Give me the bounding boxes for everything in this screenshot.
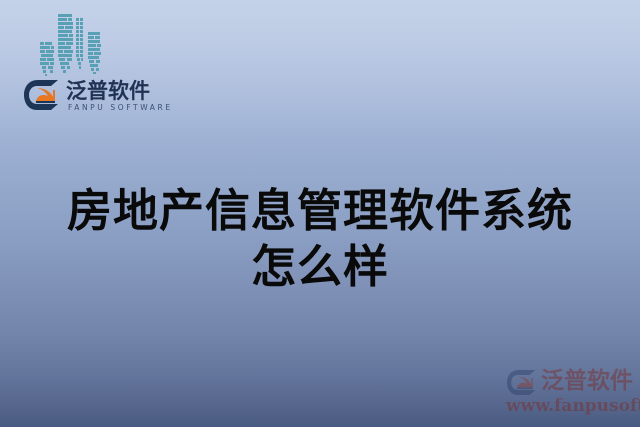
fanpu-swoosh-watermark-icon	[507, 370, 537, 395]
watermark-url: www.fanpusoft.com	[506, 396, 640, 416]
skyline-block	[51, 46, 54, 49]
skyline-block	[81, 58, 83, 61]
skyline-block	[66, 42, 73, 45]
skyline-block	[76, 50, 79, 53]
skyline-block	[97, 44, 101, 47]
skyline-block	[58, 26, 64, 29]
skyline-block	[88, 32, 100, 35]
skyline-block	[40, 58, 46, 61]
skyline-block	[58, 42, 65, 45]
skyline-block	[80, 22, 83, 25]
page-title-line2: 怎么样	[0, 239, 640, 295]
skyline-block	[58, 50, 63, 53]
skyline-block	[58, 18, 67, 21]
skyline-block	[96, 68, 99, 71]
skyline-block	[93, 72, 96, 74]
skyline-block	[89, 60, 94, 63]
skyline-block	[58, 38, 73, 41]
skyline-block	[59, 58, 65, 61]
skyline-block	[45, 74, 47, 76]
skyline-block	[90, 64, 98, 67]
skyline-block	[65, 26, 73, 29]
skyline-block	[95, 36, 100, 39]
skyline-block	[58, 30, 72, 33]
skyline-block	[88, 52, 93, 55]
skyline-block	[79, 66, 81, 69]
page-title: 房地产信息管理软件系统 怎么样	[0, 183, 640, 295]
skyline-block	[67, 58, 72, 61]
skyline-block	[58, 22, 73, 25]
skyline-block	[88, 40, 100, 43]
skyline-block	[76, 42, 79, 45]
skyline-block	[63, 70, 66, 73]
watermark-text-chinese: 泛普软件	[541, 368, 633, 395]
skyline-block	[96, 60, 100, 63]
skyline-block	[40, 50, 45, 53]
skyline-block	[47, 58, 54, 61]
skyline-block	[80, 26, 83, 29]
skyline-block	[80, 18, 83, 21]
skyline-block	[76, 30, 79, 33]
skyline-block	[67, 66, 70, 69]
skyline-block	[78, 62, 81, 65]
skyline-block	[76, 26, 79, 29]
skyline-block	[76, 38, 79, 41]
pixel-city-skyline-icon	[40, 10, 112, 78]
skyline-block	[76, 34, 79, 37]
skyline-block	[76, 54, 79, 57]
skyline-block	[88, 48, 100, 51]
brand-logo: 泛普软件 FANPU SOFTWARE	[24, 78, 144, 118]
page-title-line1: 房地产信息管理软件系统	[0, 183, 640, 239]
skyline-block	[76, 18, 79, 21]
skyline-block	[76, 22, 79, 25]
skyline-block	[80, 34, 83, 37]
skyline-block	[80, 42, 83, 45]
skyline-block	[88, 56, 99, 59]
skyline-block	[76, 46, 79, 49]
skyline-block	[77, 58, 80, 61]
fanpu-swoosh-logo-icon	[24, 80, 60, 110]
skyline-block	[68, 18, 72, 21]
skyline-block	[58, 14, 72, 17]
skyline-block	[64, 50, 73, 53]
skyline-block	[80, 38, 83, 41]
skyline-block	[80, 50, 83, 53]
skyline-block	[80, 46, 83, 49]
skyline-block	[40, 42, 44, 45]
skyline-block	[40, 46, 50, 49]
skyline-block	[58, 46, 71, 49]
skyline-block	[42, 66, 46, 69]
skyline-block	[80, 30, 83, 33]
poster-canvas: 泛普软件 FANPU SOFTWARE 房地产信息管理软件系统 怎么样 泛普软件…	[0, 0, 640, 427]
skyline-block	[58, 34, 68, 37]
skyline-block	[94, 52, 101, 55]
logo-text-english: FANPU SOFTWARE	[68, 103, 173, 112]
skyline-block	[61, 66, 65, 69]
skyline-block	[58, 54, 72, 57]
skyline-block	[88, 36, 94, 39]
skyline-block	[88, 44, 96, 47]
skyline-block	[48, 66, 53, 69]
watermark: 泛普软件 www.fanpusoft.com	[505, 366, 637, 418]
skyline-block	[69, 34, 73, 37]
skyline-block	[91, 68, 94, 71]
skyline-block	[45, 42, 52, 45]
skyline-block	[80, 54, 83, 57]
skyline-block	[50, 62, 54, 65]
skyline-block	[60, 62, 69, 65]
skyline-block	[41, 54, 53, 57]
skyline-block	[50, 70, 53, 73]
logo-text-chinese: 泛普软件	[66, 79, 150, 103]
skyline-block	[43, 70, 46, 73]
skyline-block	[46, 50, 54, 53]
skyline-block	[40, 62, 49, 65]
